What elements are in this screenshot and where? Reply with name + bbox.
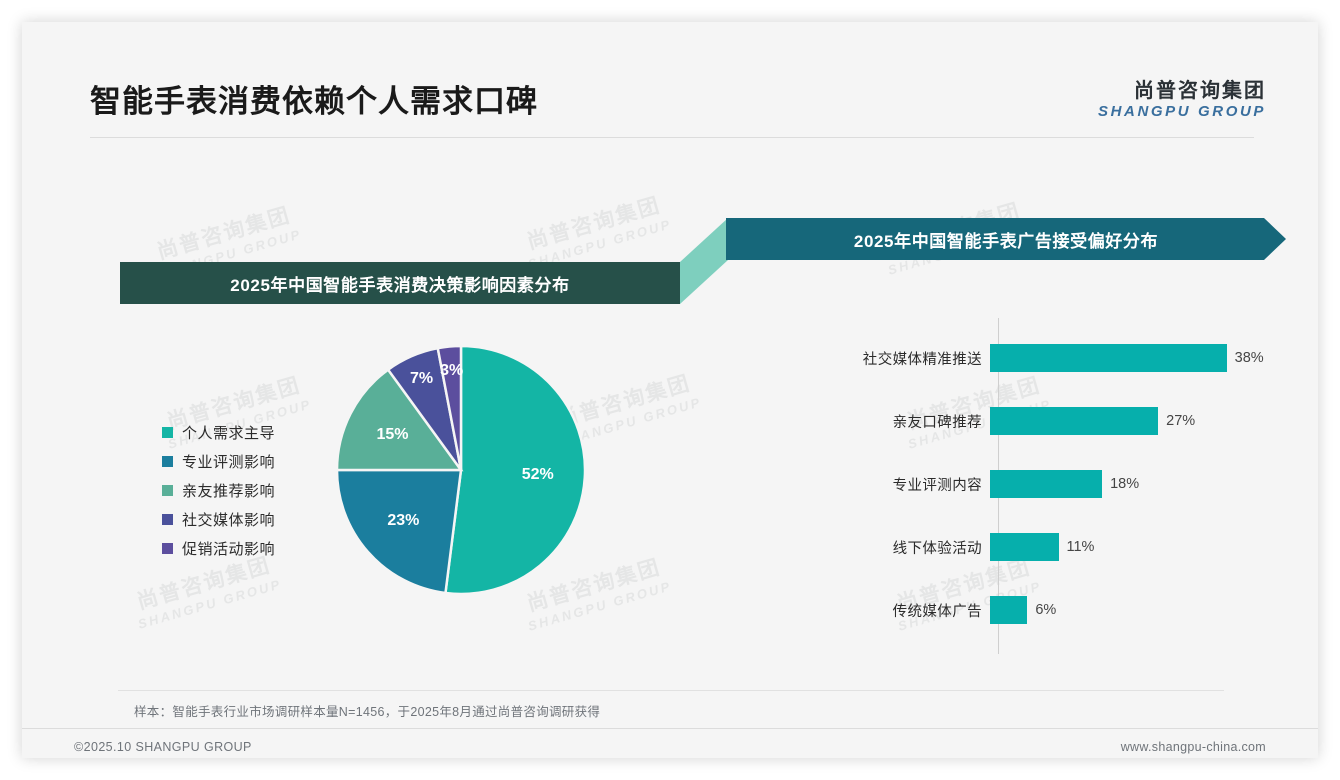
bar-track: 11% (990, 533, 1272, 561)
banner-connector-shape (680, 218, 728, 304)
pie-legend-label: 亲友推荐影响 (182, 480, 275, 501)
pie-slice-value: 3% (440, 362, 463, 380)
pie-slice-value: 23% (387, 512, 419, 530)
bar-track: 38% (990, 344, 1272, 372)
banner-left-title: 2025年中国智能手表消费决策影响因素分布 (120, 262, 680, 304)
bar-category-label: 线下体验活动 (802, 537, 990, 558)
bar-value-label: 38% (1235, 350, 1264, 366)
pie-legend-item[interactable]: 个人需求主导 (162, 418, 275, 447)
bar-fill[interactable] (990, 533, 1059, 561)
bar-category-label: 专业评测内容 (802, 474, 990, 495)
legend-swatch-icon (162, 514, 173, 525)
bar-value-label: 27% (1166, 413, 1195, 429)
pie-legend-label: 专业评测影响 (182, 451, 275, 472)
pie-slice[interactable] (337, 470, 461, 593)
bar-fill[interactable] (990, 470, 1102, 498)
pie-legend-label: 个人需求主导 (182, 422, 275, 443)
bar-fill[interactable] (990, 344, 1227, 372)
pie-legend-item[interactable]: 专业评测影响 (162, 447, 275, 476)
bar-track: 18% (990, 470, 1272, 498)
bar-track: 27% (990, 407, 1272, 435)
bar-value-label: 18% (1110, 476, 1139, 492)
pie-slice-value: 15% (376, 426, 408, 444)
bar-category-label: 社交媒体精准推送 (802, 348, 990, 369)
footer-divider (22, 728, 1318, 729)
bar-fill[interactable] (990, 596, 1027, 624)
footnote-text: 样本：智能手表行业市场调研样本量N=1456，于2025年8月通过尚普咨询调研获… (134, 701, 600, 720)
legend-swatch-icon (162, 485, 173, 496)
legend-swatch-icon (162, 456, 173, 467)
pie-legend-label: 社交媒体影响 (182, 509, 275, 530)
pie-slice[interactable] (445, 346, 585, 594)
legend-swatch-icon (162, 543, 173, 554)
bar-category-label: 亲友口碑推荐 (802, 411, 990, 432)
bar-row[interactable]: 专业评测内容18% (802, 470, 1272, 498)
slide-canvas: 尚普咨询集团 SHANGPU GROUP 尚普咨询集团 SHANGPU GROU… (22, 22, 1318, 758)
brand-name-en: SHANGPU GROUP (1098, 103, 1266, 121)
page-title: 智能手表消费依赖个人需求口碑 (90, 86, 538, 117)
bar-value-label: 6% (1035, 602, 1056, 618)
banner-right-title: 2025年中国智能手表广告接受偏好分布 (726, 218, 1286, 260)
bar-track: 6% (990, 596, 1272, 624)
bar-category-label: 传统媒体广告 (802, 600, 990, 621)
brand-logo: 尚普咨询集团 SHANGPU GROUP (1098, 80, 1266, 121)
footer-copyright: ©2025.10 SHANGPU GROUP (74, 740, 252, 754)
bar-fill[interactable] (990, 407, 1158, 435)
brand-name-cn: 尚普咨询集团 (1098, 80, 1266, 103)
pie-legend-label: 促销活动影响 (182, 538, 275, 559)
bar-row[interactable]: 线下体验活动11% (802, 533, 1272, 561)
pie-legend-item[interactable]: 促销活动影响 (162, 534, 275, 563)
bar-row[interactable]: 亲友口碑推荐27% (802, 407, 1272, 435)
slide-header: 智能手表消费依赖个人需求口碑 尚普咨询集团 SHANGPU GROUP (22, 22, 1318, 138)
legend-swatch-icon (162, 427, 173, 438)
pie-legend-item[interactable]: 亲友推荐影响 (162, 476, 275, 505)
header-divider (90, 137, 1254, 138)
pie-chart: 52%23%15%7%3% (335, 344, 587, 596)
pie-legend: 个人需求主导专业评测影响亲友推荐影响社交媒体影响促销活动影响 (162, 418, 275, 563)
section-banners: 2025年中国智能手表消费决策影响因素分布 2025年中国智能手表广告接受偏好分… (22, 210, 1318, 308)
bar-value-label: 11% (1067, 539, 1095, 555)
bar-row[interactable]: 传统媒体广告6% (802, 596, 1272, 624)
pie-slice-value: 52% (522, 466, 554, 484)
pie-chart-panel: 个人需求主导专业评测影响亲友推荐影响社交媒体影响促销活动影响 52%23%15%… (100, 322, 660, 652)
footnote-divider (118, 690, 1224, 691)
footer-website[interactable]: www.shangpu-china.com (1121, 740, 1266, 754)
pie-legend-item[interactable]: 社交媒体影响 (162, 505, 275, 534)
bar-row[interactable]: 社交媒体精准推送38% (802, 344, 1272, 372)
bar-chart-panel: 社交媒体精准推送38%亲友口碑推荐27%专业评测内容18%线下体验活动11%传统… (802, 318, 1272, 658)
pie-slice-value: 7% (410, 370, 433, 388)
